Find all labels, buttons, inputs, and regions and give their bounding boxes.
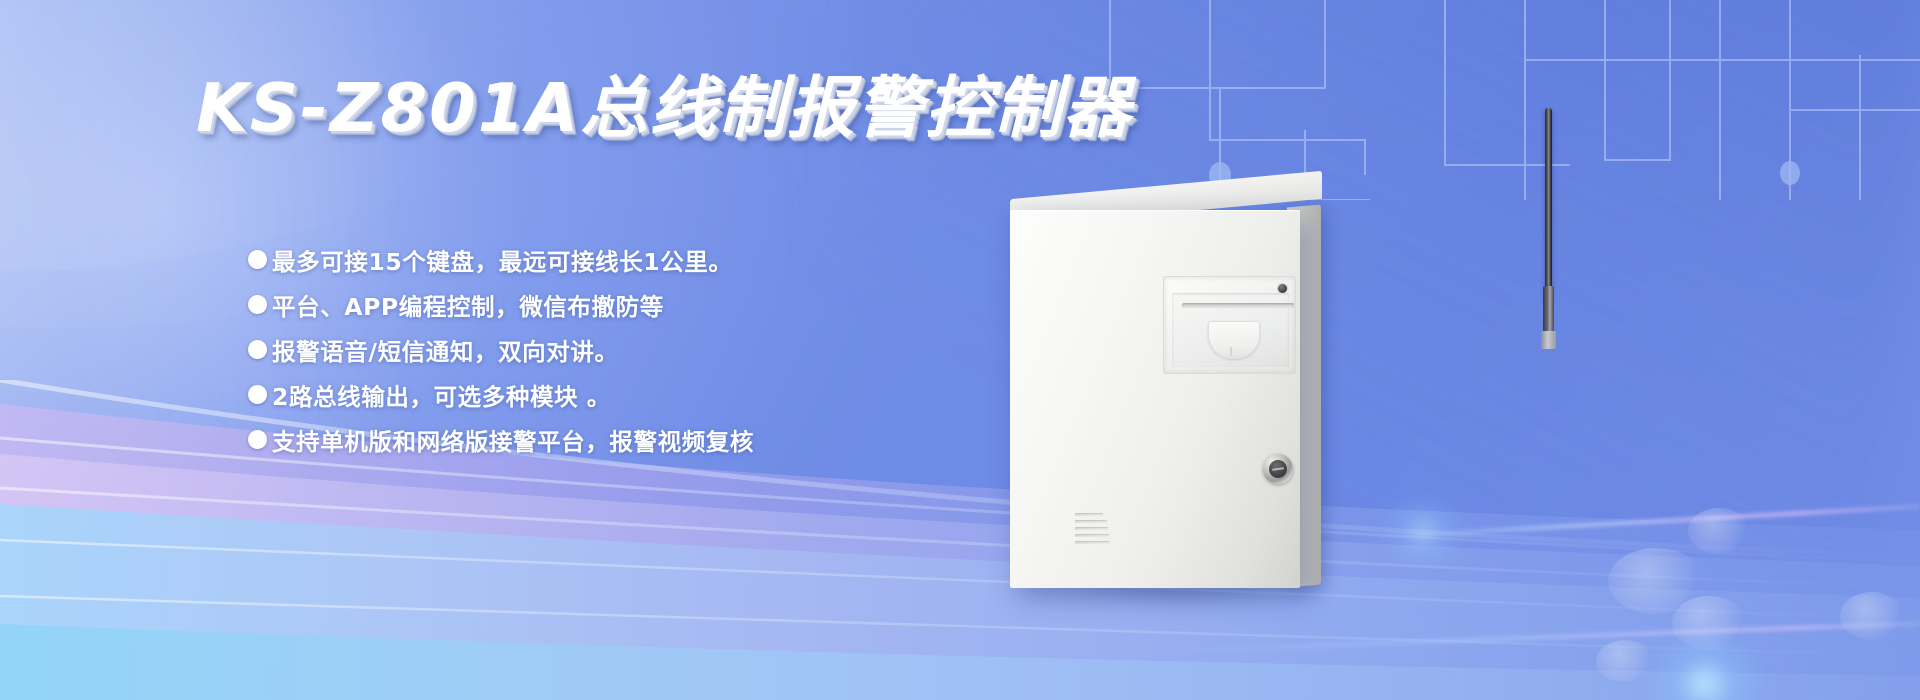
feature-text-5: 支持单机版和网络版接警平台，报警视频复核: [272, 423, 754, 457]
vent-line: [1075, 527, 1108, 530]
printer-window: [1163, 276, 1296, 374]
status-led-icon: [1278, 284, 1287, 293]
antenna-nut: [1541, 331, 1556, 349]
bokeh-circle-3: [1688, 508, 1750, 554]
lock-keyway: [1272, 467, 1284, 471]
vent-line: [1075, 541, 1109, 544]
vent-line: [1075, 534, 1109, 537]
product-image: [1005, 88, 1605, 648]
feature-list: 最多可接15个键盘，最远可接线长1公里。 平台、APP编程控制，微信布撤防等 报…: [248, 238, 1128, 463]
feature-item-3: 报警语音/短信通知，双向对讲。: [248, 328, 1128, 371]
feature-item-2: 平台、APP编程控制，微信布撤防等: [248, 283, 1128, 326]
key-lock-icon: [1263, 454, 1293, 484]
bokeh-circle-2: [1672, 596, 1746, 650]
bullet-dot-icon: [248, 385, 267, 404]
bokeh-circle-1: [1608, 548, 1704, 614]
ventilation-slots: [1075, 513, 1109, 548]
vent-line: [1075, 513, 1103, 516]
paper-pull-tab: [1208, 321, 1260, 359]
printer-inner-panel: [1172, 293, 1289, 367]
feature-text-1: 最多可接15个键盘，最远可接线长1公里。: [272, 243, 733, 277]
antenna-icon: [1545, 108, 1552, 300]
paper-slot: [1182, 303, 1294, 308]
bullet-dot-icon: [248, 250, 267, 269]
feature-item-5: 支持单机版和网络版接警平台，报警视频复核: [248, 418, 1128, 461]
bullet-dot-icon: [248, 430, 267, 449]
feature-item-1: 最多可接15个键盘，最远可接线长1公里。: [248, 238, 1128, 281]
vent-line: [1075, 520, 1107, 523]
bokeh-circle-5: [1840, 592, 1904, 640]
antenna-base: [1543, 286, 1554, 336]
feature-text-3: 报警语音/短信通知，双向对讲。: [272, 333, 619, 367]
lock-core: [1269, 460, 1287, 478]
product-banner: KS-Z801A总线制报警控制器 最多可接15个键盘，最远可接线长1公里。 平台…: [0, 0, 1920, 700]
enclosure-door: [1010, 210, 1300, 588]
light-flare-right: [1630, 638, 1780, 700]
bullet-dot-icon: [248, 295, 267, 314]
feature-text-4: 2路总线输出，可选多种模块 。: [272, 378, 611, 412]
feature-item-4: 2路总线输出，可选多种模块 。: [248, 373, 1128, 416]
feature-text-2: 平台、APP编程控制，微信布撤防等: [272, 288, 664, 322]
bullet-dot-icon: [248, 340, 267, 359]
